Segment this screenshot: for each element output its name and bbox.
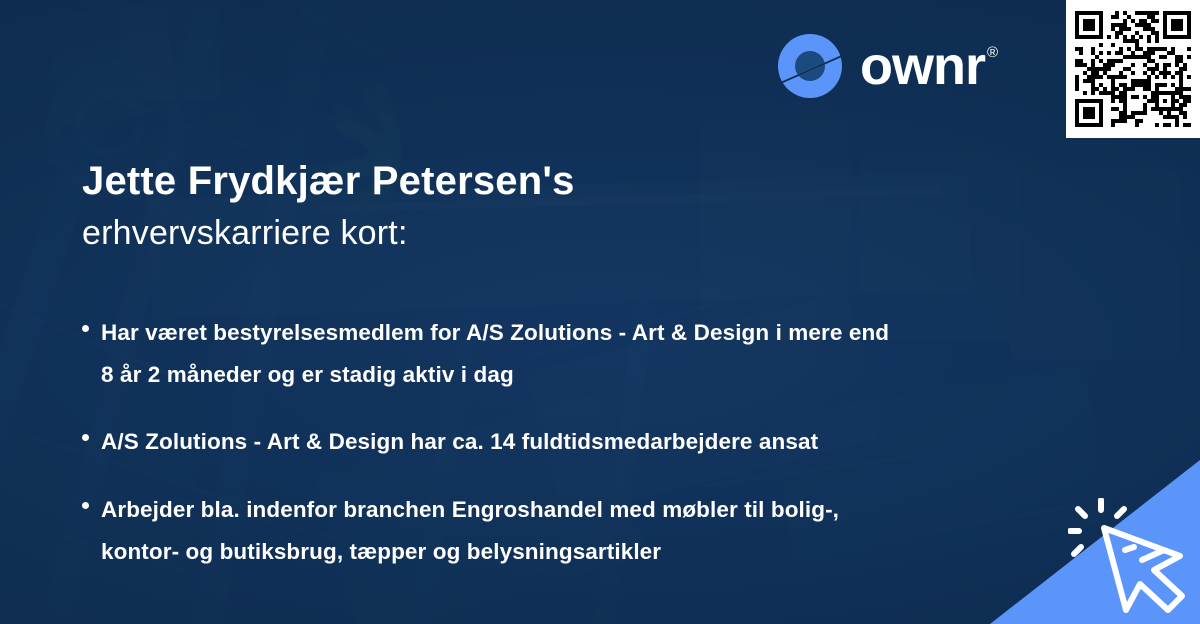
list-item-text: A/S Zolutions - Art & Design har ca. 14 …	[101, 421, 818, 463]
list-item: Har været bestyrelsesmedlem for A/S Zolu…	[82, 312, 982, 395]
list-item: A/S Zolutions - Art & Design har ca. 14 …	[82, 421, 982, 463]
career-facts-list: Har været bestyrelsesmedlem for A/S Zolu…	[82, 312, 982, 572]
list-item-text: Har været bestyrelsesmedlem for A/S Zolu…	[101, 312, 891, 395]
ownr-logo[interactable]: ownr ®	[776, 30, 998, 102]
bullet-dot-icon	[82, 434, 89, 441]
click-cursor-icon	[1068, 498, 1194, 620]
registered-trademark-icon: ®	[987, 45, 998, 60]
list-item-text: Arbejder bla. indenfor branchen Engrosha…	[101, 489, 891, 572]
bullet-dot-icon	[82, 325, 89, 332]
business-card-banner: ownr ® Jette Frydkjær Petersen's erhverv…	[0, 0, 1200, 624]
list-item: Arbejder bla. indenfor branchen Engrosha…	[82, 489, 982, 572]
qr-code-panel[interactable]	[1066, 0, 1200, 138]
ownr-wordmark: ownr	[860, 39, 985, 93]
person-name-heading: Jette Frydkjær Petersen's	[82, 158, 982, 205]
subtitle-heading: erhvervskarriere kort:	[82, 211, 982, 255]
bullet-dot-icon	[82, 502, 89, 509]
ownr-circle-swirl-icon	[776, 32, 844, 100]
qr-code-icon	[1075, 11, 1191, 127]
page-title: Jette Frydkjær Petersen's erhvervskarrie…	[82, 158, 982, 255]
